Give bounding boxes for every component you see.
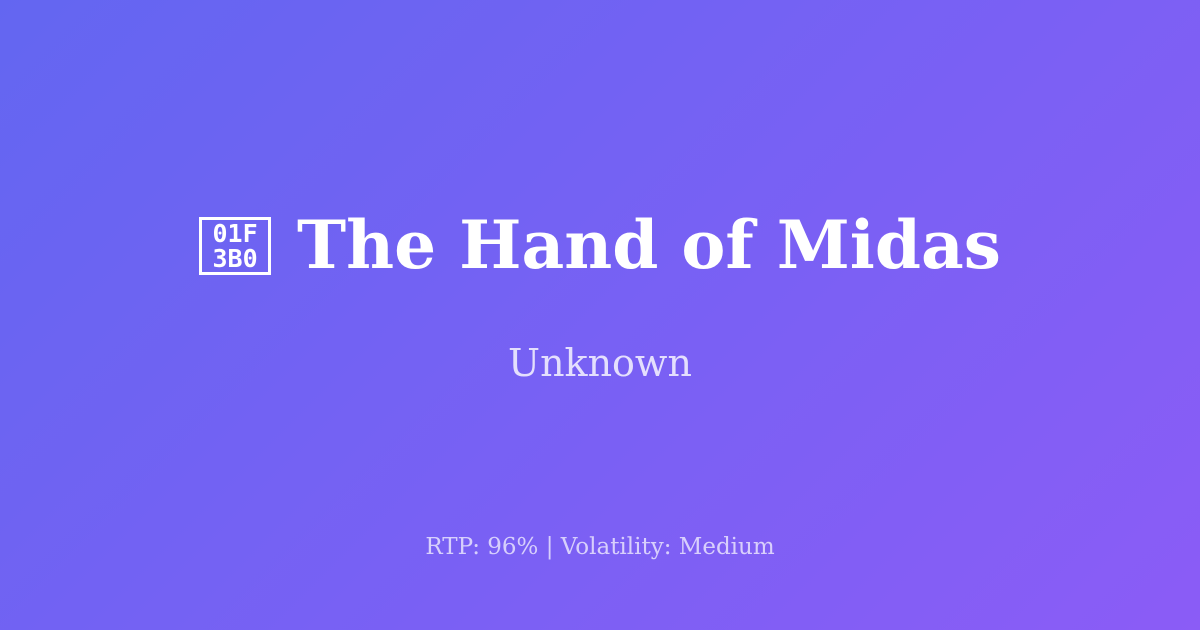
provider-subtitle: Unknown (508, 343, 692, 385)
game-stats-line: RTP: 96% | Volatility: Medium (0, 534, 1200, 562)
title-row: 01F 3B0 The Hand of Midas (199, 211, 1001, 280)
slot-machine-icon-codepoint-bottom: 3B0 (212, 246, 257, 271)
hero-block: 01F 3B0 The Hand of Midas Unknown (0, 211, 1200, 384)
game-og-card: 01F 3B0 The Hand of Midas Unknown RTP: 9… (0, 0, 1200, 630)
slot-machine-icon: 01F 3B0 (199, 217, 271, 275)
slot-machine-icon-codepoint-top: 01F (212, 221, 257, 246)
page-title: The Hand of Midas (297, 211, 1001, 280)
